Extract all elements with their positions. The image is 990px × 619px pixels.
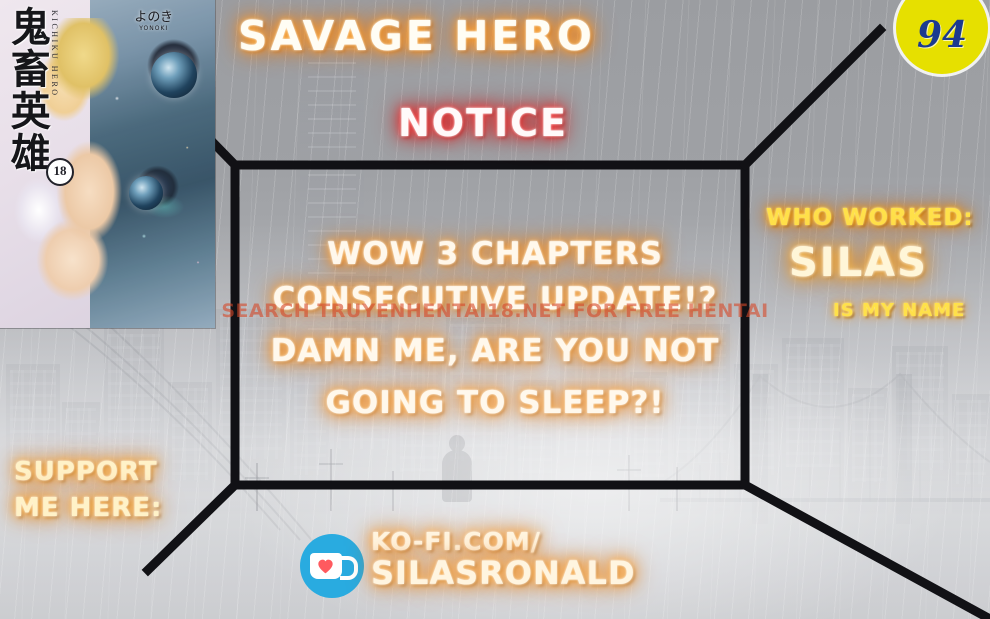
support-label-line-2: ME HERE: bbox=[14, 493, 162, 523]
series-title: SAVAGE HERO bbox=[238, 12, 595, 60]
kofi-url-line-2[interactable]: SILASRONALD bbox=[371, 554, 636, 592]
cover-author: よのき YONOKI bbox=[134, 6, 173, 32]
credits-label: WHO WORKED: bbox=[766, 205, 974, 231]
cover-author-name: よのき bbox=[134, 10, 173, 25]
series-cover-thumbnail[interactable]: 鬼畜英雄 KICHIKU HERO よのき YONOKI 18 bbox=[0, 0, 215, 328]
notice-line-4: GOING TO SLEEP?! bbox=[0, 385, 990, 421]
credits-name: SILAS bbox=[789, 240, 928, 286]
site-watermark: SEARCH TRUYENHENTAI18.NET FOR FREE HENTA… bbox=[0, 300, 990, 322]
notice-line-3: DAMN ME, ARE YOU NOT bbox=[0, 333, 990, 369]
cover-romaji-title: KICHIKU HERO bbox=[50, 10, 59, 98]
notice-heading: NOTICE bbox=[398, 101, 568, 145]
support-label-line-1: SUPPORT bbox=[14, 457, 158, 487]
cover-japanese-title: 鬼畜英雄 bbox=[6, 6, 47, 174]
notice-page: 鬼畜英雄 KICHIKU HERO よのき YONOKI 18 SAVAGE H… bbox=[0, 0, 990, 619]
cover-age-rating-badge: 18 bbox=[46, 158, 74, 186]
chapter-number: 94 bbox=[896, 14, 988, 56]
cover-author-romaji: YONOKI bbox=[134, 25, 173, 32]
kofi-url-line-1[interactable]: KO-FI.COM/ bbox=[371, 527, 541, 556]
kofi-cup-icon[interactable] bbox=[300, 534, 364, 598]
cover-eye-large bbox=[151, 52, 197, 98]
heart-icon bbox=[317, 559, 334, 574]
